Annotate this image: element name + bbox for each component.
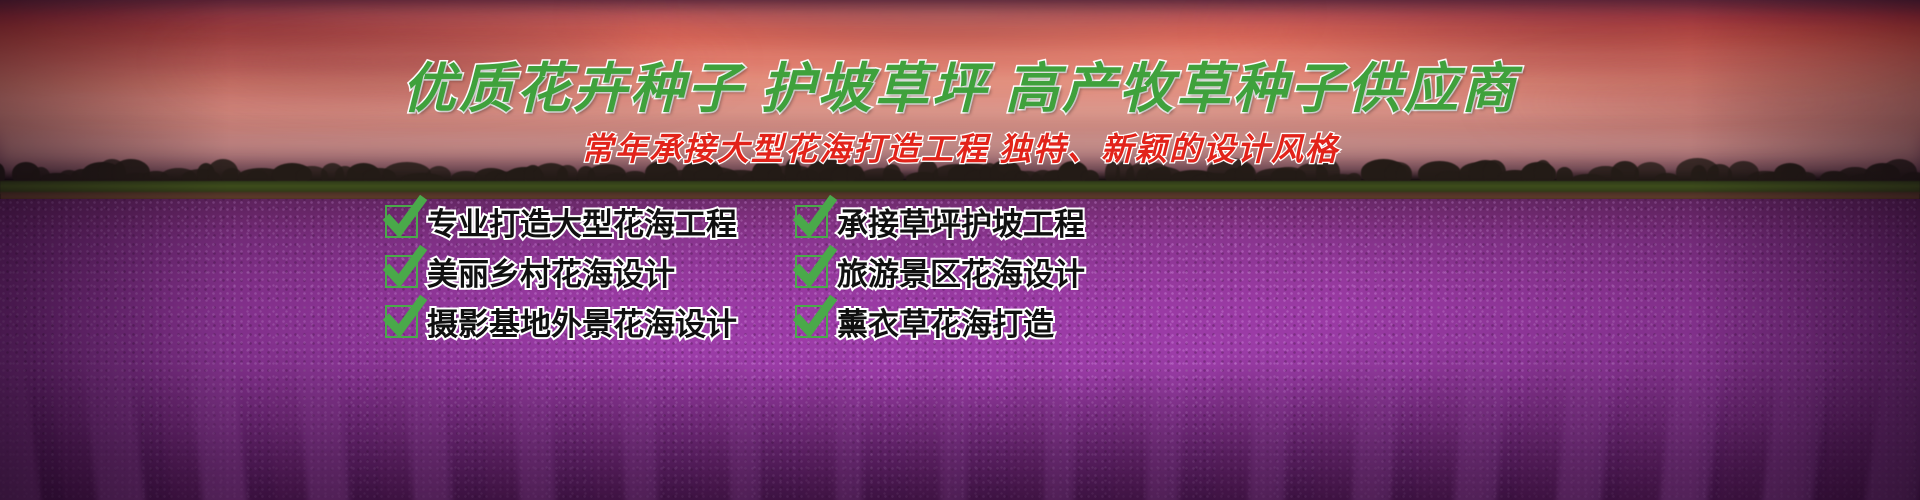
feature-item: 薰衣草花海打造 (795, 299, 1125, 344)
check-icon (385, 305, 418, 338)
feature-label: 旅游景区花海设计 (837, 249, 1085, 294)
check-icon (385, 205, 418, 238)
feature-label: 承接草坪护坡工程 (837, 199, 1085, 244)
cloud-band (0, 24, 1920, 38)
check-icon (795, 255, 828, 288)
check-icon (795, 205, 828, 238)
feature-item: 旅游景区花海设计 (795, 249, 1125, 294)
feature-label: 美丽乡村花海设计 (427, 249, 675, 294)
cloud-band (0, 6, 1920, 22)
feature-checklist: 专业打造大型花海工程承接草坪护坡工程美丽乡村花海设计旅游景区花海设计摄影基地外景… (385, 196, 1185, 346)
feature-item: 专业打造大型花海工程 (385, 199, 785, 244)
subtitle: 常年承接大型花海打造工程 独特、新颖的设计风格 (0, 124, 1920, 170)
page-title: 优质花卉种子 护坡草坪 高产牧草种子供应商 (0, 44, 1920, 123)
promo-banner: 优质花卉种子 护坡草坪 高产牧草种子供应商 常年承接大型花海打造工程 独特、新颖… (0, 0, 1920, 500)
feature-item: 摄影基地外景花海设计 (385, 299, 785, 344)
feature-label: 薰衣草花海打造 (837, 299, 1054, 344)
check-icon (795, 305, 828, 338)
feature-label: 专业打造大型花海工程 (427, 199, 737, 244)
feature-label: 摄影基地外景花海设计 (427, 299, 737, 344)
feature-item: 美丽乡村花海设计 (385, 249, 785, 294)
feature-item: 承接草坪护坡工程 (795, 199, 1125, 244)
check-icon (385, 255, 418, 288)
